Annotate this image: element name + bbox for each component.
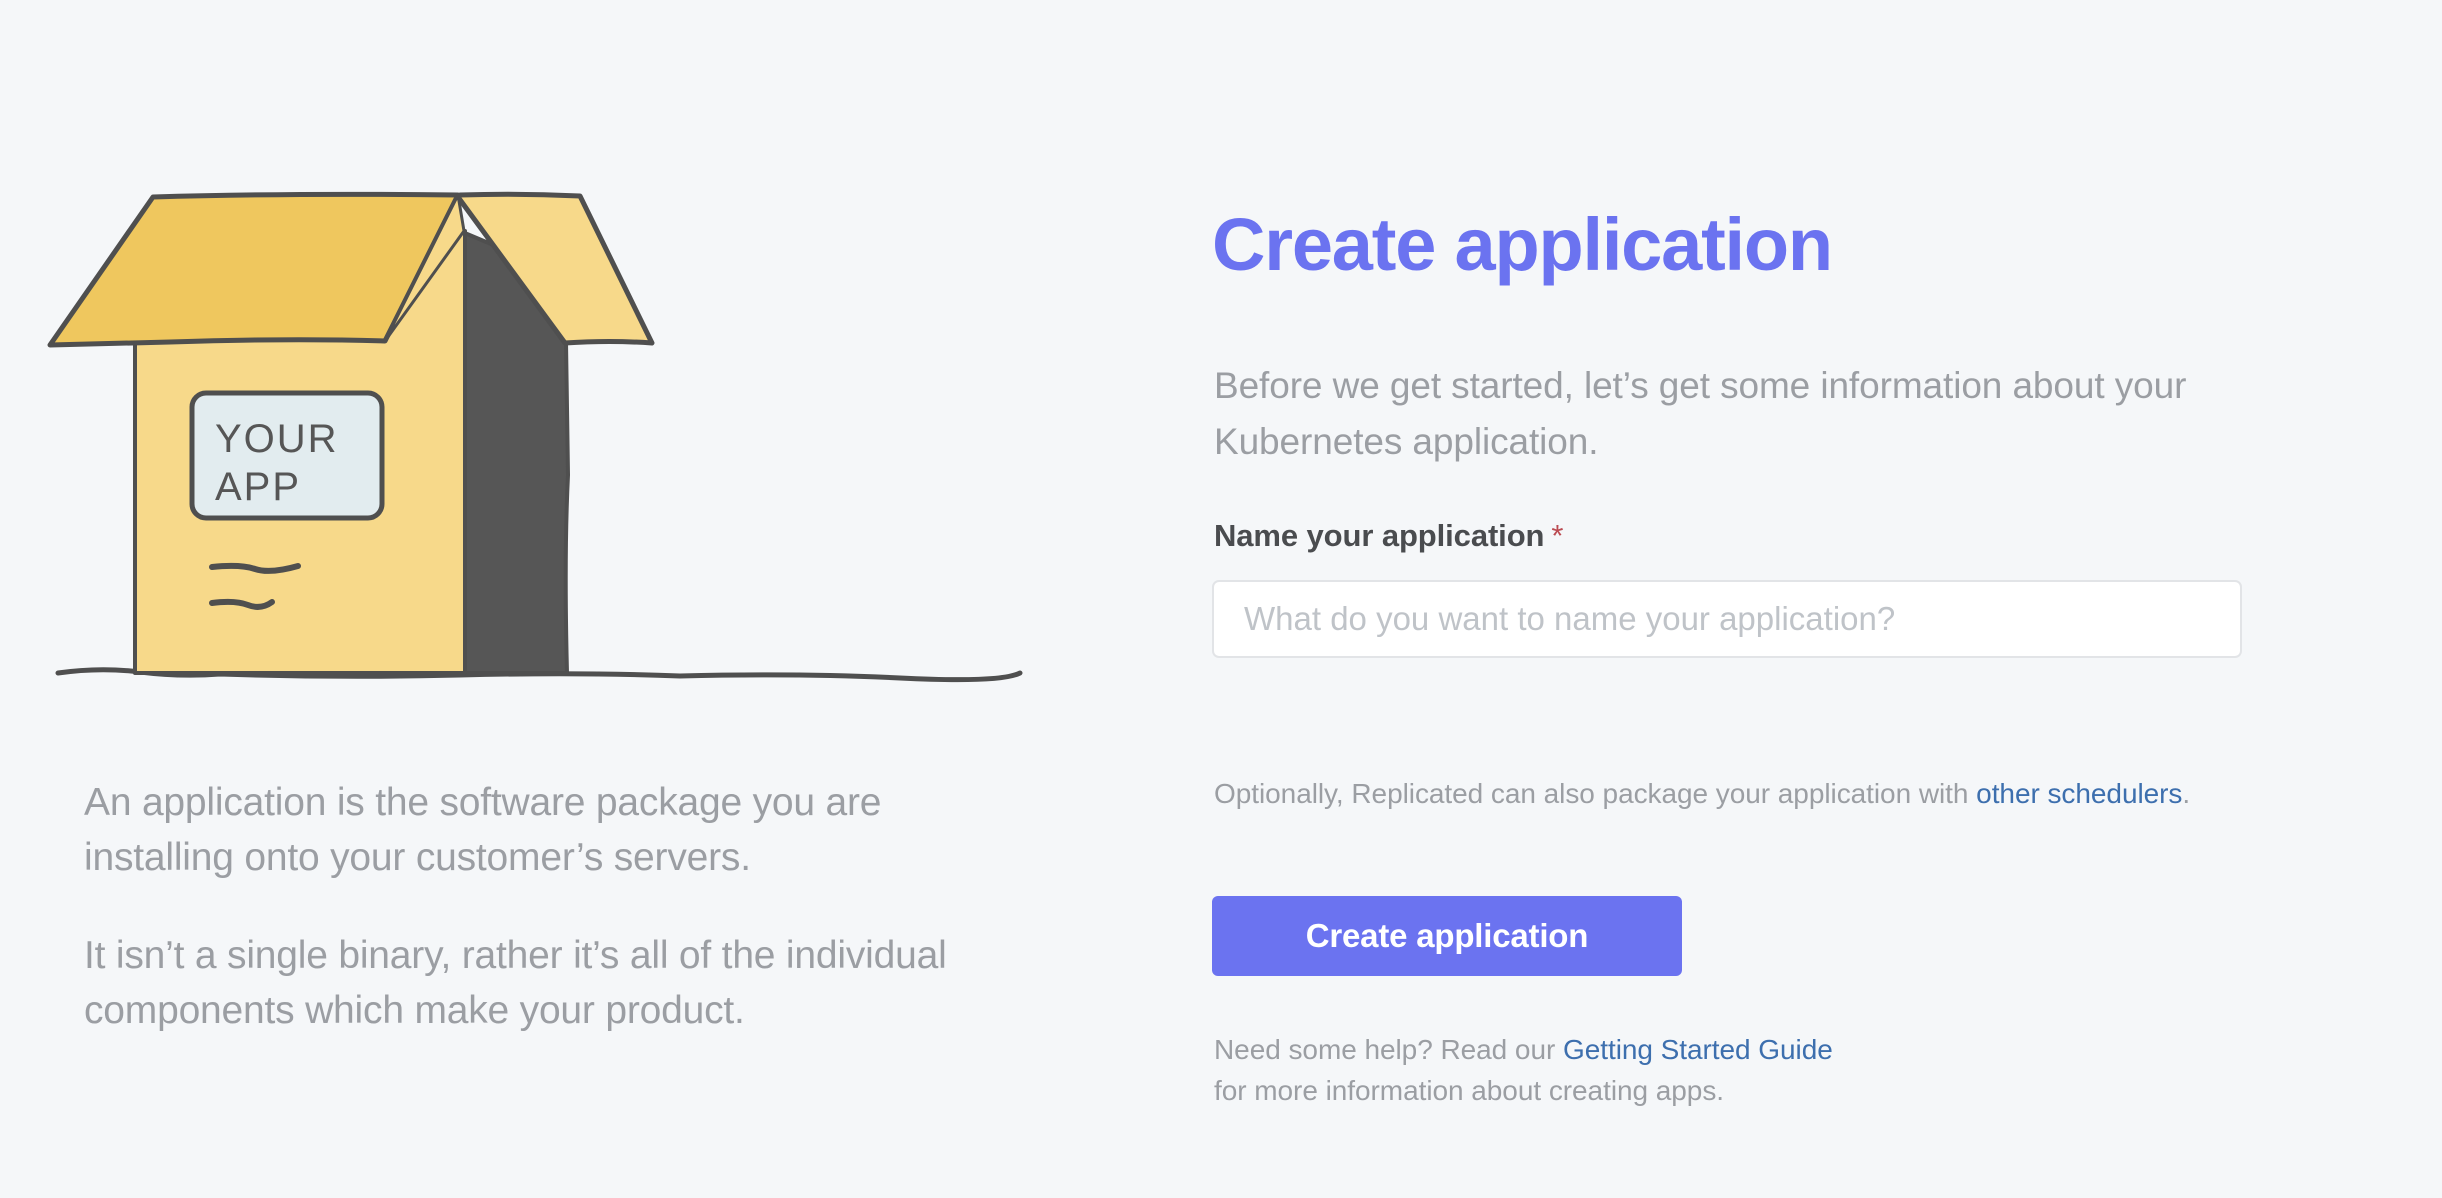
sticker-label-line2: APP: [215, 465, 301, 509]
application-name-label-text: Name your application: [1214, 518, 1544, 553]
help-note-suffix: for more information about creating apps…: [1214, 1071, 2114, 1112]
application-name-label: Name your application*: [1214, 518, 1563, 554]
other-schedulers-link[interactable]: other schedulers: [1976, 778, 2182, 809]
help-note: Need some help? Read our Getting Started…: [1214, 1030, 2114, 1111]
application-name-input[interactable]: [1212, 580, 2242, 658]
description-paragraph-1: An application is the software package y…: [84, 775, 1024, 886]
sticker-label-line1: YOUR: [215, 417, 339, 461]
create-application-page: YOUR APP An application is the software …: [0, 0, 2442, 1198]
help-note-prefix: Need some help? Read our: [1214, 1034, 1563, 1065]
page-subtitle: Before we get started, let’s get some in…: [1214, 358, 2344, 469]
getting-started-guide-link[interactable]: Getting Started Guide: [1563, 1034, 1833, 1065]
left-info-column: YOUR APP An application is the software …: [0, 0, 1150, 1198]
other-schedulers-note-prefix: Optionally, Replicated can also package …: [1214, 778, 1976, 809]
page-title: Create application: [1212, 208, 1832, 282]
required-asterisk: *: [1551, 518, 1563, 553]
create-application-button[interactable]: Create application: [1212, 896, 1682, 976]
cardboard-box-illustration: YOUR APP: [40, 175, 1050, 735]
description-paragraph-2: It isn’t a single binary, rather it’s al…: [84, 928, 1024, 1039]
other-schedulers-note: Optionally, Replicated can also package …: [1214, 778, 2190, 810]
left-description: An application is the software package y…: [84, 775, 1024, 1039]
other-schedulers-note-suffix: .: [2182, 778, 2190, 809]
